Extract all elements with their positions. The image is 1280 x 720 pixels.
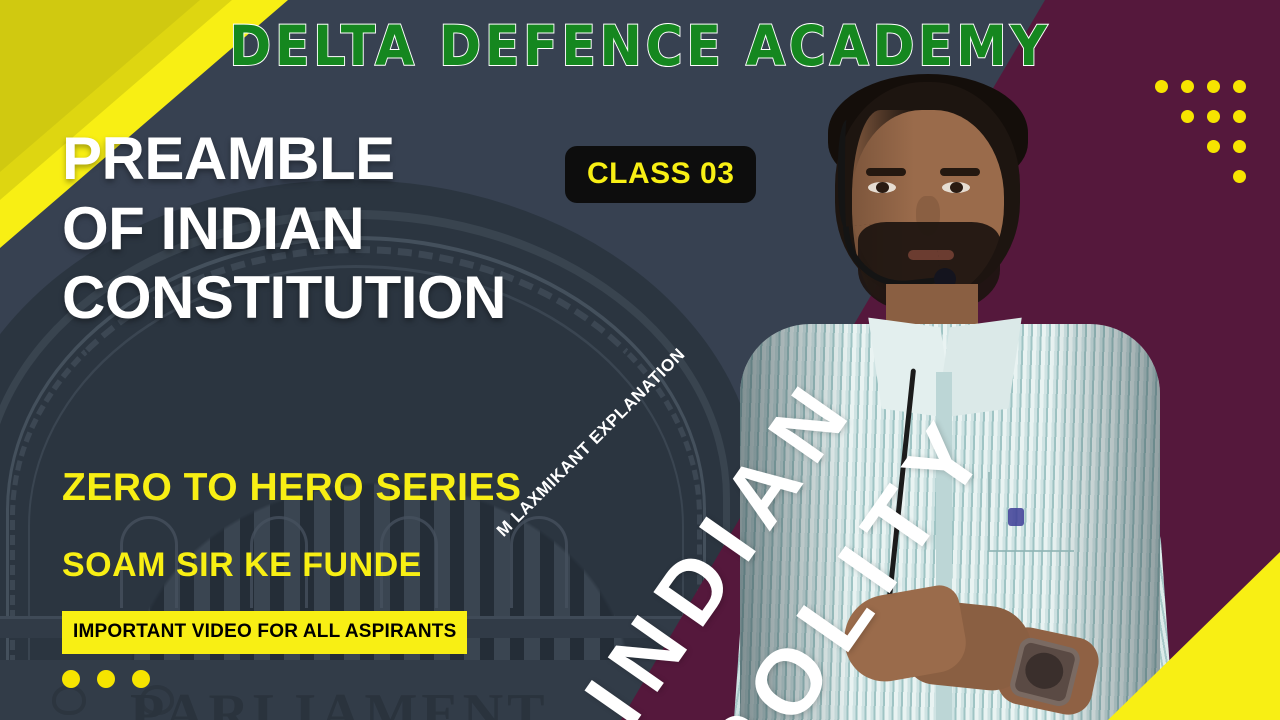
pupil-right <box>950 182 963 193</box>
watch-face <box>1021 649 1067 693</box>
main-title-block: PREAMBLE OF INDIAN CONSTITUTION <box>62 124 506 333</box>
pupil-left <box>876 182 889 193</box>
headset-boom-arm <box>843 217 941 292</box>
dot <box>1181 110 1194 123</box>
dot-pattern-decoration <box>1155 80 1259 200</box>
academy-name-header: DELTA DEFENCE ACADEMY <box>51 14 1229 78</box>
dot <box>1233 110 1246 123</box>
dot <box>97 670 115 688</box>
dot-empty <box>1181 170 1194 183</box>
dot-empty <box>1155 170 1168 183</box>
watermark-label: PARLIAMENT <box>130 682 549 720</box>
title-line-3: CONSTITUTION <box>62 263 506 333</box>
dot-empty <box>1207 170 1220 183</box>
dot-empty <box>1155 110 1168 123</box>
dot <box>1207 140 1220 153</box>
dot <box>1233 80 1246 93</box>
dot <box>62 670 80 688</box>
dot <box>1233 170 1246 183</box>
eyebrow-right <box>940 168 980 176</box>
dot <box>1233 140 1246 153</box>
shirt-pocket <box>988 472 1074 552</box>
dot <box>1155 80 1168 93</box>
archway-icon <box>510 516 568 608</box>
dot-empty <box>1155 140 1168 153</box>
dot <box>132 670 150 688</box>
dot-empty <box>1181 140 1194 153</box>
dot <box>1181 80 1194 93</box>
dot <box>1207 110 1220 123</box>
dot <box>1207 80 1220 93</box>
eyebrow-left <box>866 168 906 176</box>
bottom-dots-decoration <box>62 670 150 688</box>
class-badge: CLASS 03 <box>565 146 756 203</box>
headset-band <box>838 120 860 230</box>
pocket-logo-icon <box>1008 508 1024 526</box>
important-video-badge: IMPORTANT VIDEO FOR ALL ASPIRANTS <box>62 611 467 654</box>
title-line-2: OF INDIAN <box>62 194 506 264</box>
series-subtitle: ZERO TO HERO SERIES <box>62 466 522 510</box>
instructor-subtitle: SOAM SIR KE FUNDE <box>62 546 422 585</box>
seal-icon <box>52 685 86 715</box>
thumbnail-canvas: PARLIAMENT <box>0 0 1280 720</box>
title-line-1: PREAMBLE <box>62 124 506 194</box>
